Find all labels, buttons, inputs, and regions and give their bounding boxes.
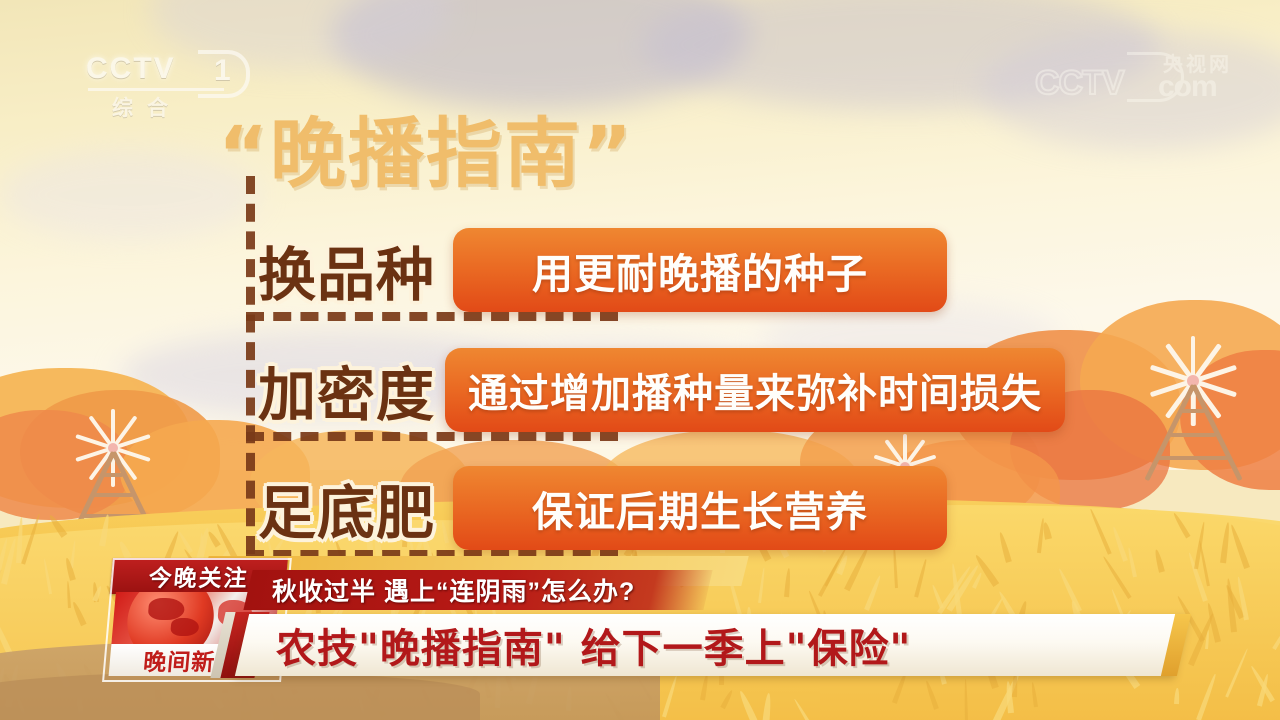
guide-row-pill-text: 用更耐晚播的种子 [532,240,868,300]
windmill-rung [103,473,123,477]
dashed-row-separator [246,312,618,321]
guide-row-label: 足底肥 [258,466,435,550]
logo-underline [88,88,224,91]
page-title: “晚播指南” [218,92,634,202]
watermark-cctv-text: CCTV [1035,64,1124,103]
windmill-rung [93,493,133,497]
cctv-channel-subtitle: 综合 [112,92,182,122]
guide-row: 足底肥 保证后期生长营养 [258,466,947,550]
guide-row-pill-text: 保证后期生长营养 [532,478,868,538]
guide-row-pill-text: 通过增加播种量来弥补时间损失 [468,361,1042,419]
cctv-logo-text: CCTV [86,52,176,86]
cctv-com-watermark: CCTV 央视网 com [1035,50,1235,102]
guide-row-pill: 通过增加播种量来弥补时间损失 [445,348,1065,432]
windmill-rung [1158,456,1228,460]
cctv-channel-number: 1 [214,54,231,88]
windmill-icon [1128,330,1258,480]
tv-broadcast-frame: CCTV 1 综合 CCTV 央视网 com “晚播指南” 换品种 用更耐晚播的… [0,0,1280,720]
dashed-row-separator [246,432,618,441]
guide-row-pill: 用更耐晚播的种子 [453,228,947,312]
windmill-rung [1181,409,1204,413]
dashed-left-border [246,176,255,554]
watermark-com-text: com [1158,70,1217,104]
guide-row-label: 换品种 [258,228,435,312]
guide-row-label: 加密度 [258,348,435,432]
windmill-rung [1170,433,1217,437]
subheadline-text: 秋收过半 遇上“连阴雨”怎么办? [272,571,635,609]
guide-row: 换品种 用更耐晚播的种子 [258,228,947,312]
guide-row: 加密度 通过增加播种量来弥补时间损失 [258,348,1065,432]
lower-third: 今晚关注 晚间新闻 秋收过半 遇上“连阴雨”怎么办? 农技"晚播指南" 给下一季… [0,552,1280,720]
guide-row-pill: 保证后期生长营养 [453,466,947,550]
headline-text: 农技"晚播指南" 给下一季上"保险" [276,614,911,676]
